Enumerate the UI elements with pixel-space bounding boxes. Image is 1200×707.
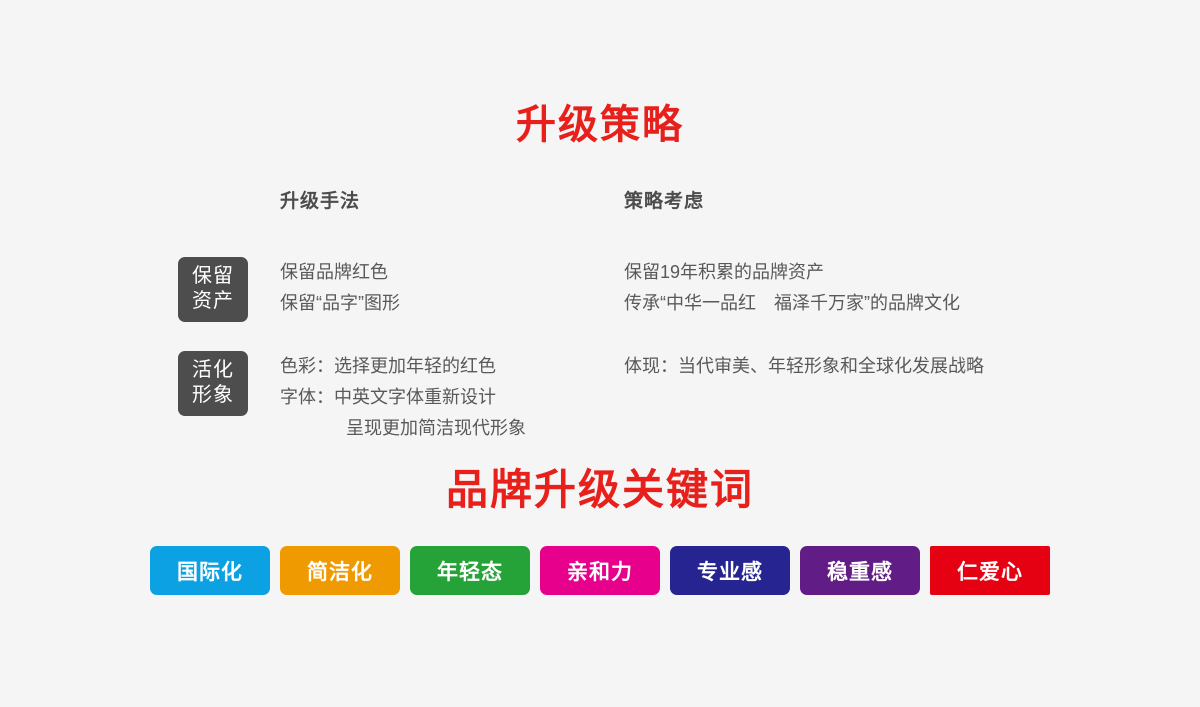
row-0-consideration-cell: 保留19年积累的品牌资产 传承“中华一品红 福泽千万家”的品牌文化 [624,257,960,319]
row-1-method-cell: 色彩：选择更加年轻的红色 字体：中英文字体重新设计 呈现更加简洁现代形象 [280,351,526,444]
row-1-consideration-line-1: 体现：当代审美、年轻形象和全球化发展战略 [624,351,984,382]
row-0-consideration-line-2: 传承“中华一品红 福泽千万家”的品牌文化 [624,288,960,319]
row-badge-preserve-assets: 保留 资产 [178,257,248,322]
keyword-pill-benevolence[interactable]: 仁爱心 [930,546,1050,595]
row-1-consideration-cell: 体现：当代审美、年轻形象和全球化发展战略 [624,351,984,382]
row-badge-revitalize-image: 活化 形象 [178,351,248,416]
row-0-method-cell: 保留品牌红色 保留“品字”图形 [280,257,400,319]
row-0-method-line-2: 保留“品字”图形 [280,288,400,319]
row-1-method-line-2: 字体：中英文字体重新设计 [280,382,526,413]
column-header-consideration: 策略考虑 [624,186,704,213]
strategy-column-headers: 升级手法 策略考虑 [170,186,1070,216]
row-badge-line-1: 保留 [178,264,248,289]
slide-canvas: 升级策略 升级手法 策略考虑 保留 资产 保留品牌红色 保留“品字”图形 保留1… [0,0,1200,707]
strategy-row: 活化 形象 色彩：选择更加年轻的红色 字体：中英文字体重新设计 呈现更加简洁现代… [170,351,1070,441]
row-0-consideration-line-1: 保留19年积累的品牌资产 [624,257,960,288]
keyword-pill-professional[interactable]: 专业感 [670,546,790,595]
keyword-pill-row: 国际化 简洁化 年轻态 亲和力 专业感 稳重感 仁爱心 [0,546,1200,595]
row-badge-line-1: 活化 [178,358,248,383]
keyword-pill-affinity[interactable]: 亲和力 [540,546,660,595]
row-badge-line-2: 形象 [178,383,248,408]
keyword-pill-steady[interactable]: 稳重感 [800,546,920,595]
keyword-pill-simplified[interactable]: 简洁化 [280,546,400,595]
row-0-method-line-1: 保留品牌红色 [280,257,400,288]
row-badge-line-2: 资产 [178,289,248,314]
section-title-brand-keywords: 品牌升级关键词 [0,456,1200,517]
strategy-table: 升级手法 策略考虑 保留 资产 保留品牌红色 保留“品字”图形 保留19年积累的… [170,186,1070,441]
keyword-pill-international[interactable]: 国际化 [150,546,270,595]
strategy-row: 保留 资产 保留品牌红色 保留“品字”图形 保留19年积累的品牌资产 传承“中华… [170,257,1070,337]
column-header-method: 升级手法 [280,186,360,213]
row-1-method-line-1: 色彩：选择更加年轻的红色 [280,351,526,382]
row-1-method-line-3: 呈现更加简洁现代形象 [280,413,526,444]
keyword-pill-youthful[interactable]: 年轻态 [410,546,530,595]
section-title-upgrade-strategy: 升级策略 [0,92,1200,150]
